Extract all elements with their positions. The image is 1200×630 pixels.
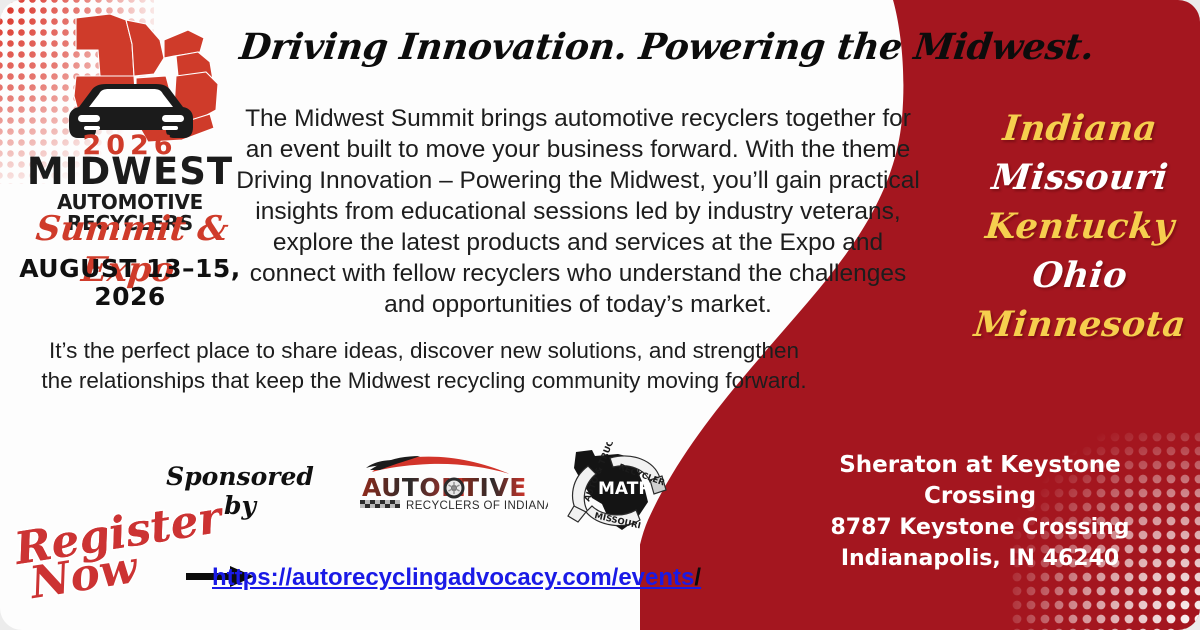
checkered-flag-icon [360,500,400,508]
registration-url-text: https://autorecyclingadvocacy.com/events [212,564,694,591]
state-item-minnesota: Minnesota [957,300,1200,349]
registration-url-tail: / [694,564,701,591]
event-dates-line1: AUGUST 13–15, [14,255,246,283]
headline-tagline: Driving Innovation. Powering the Midwest… [237,26,932,68]
svg-text:TIVE: TIVE [462,473,527,502]
state-item-kentucky: Kentucky [957,202,1200,251]
svg-text:RECYCLERS OF INDIANA: RECYCLERS OF INDIANA [406,500,548,512]
venue-city-state-zip: Indianapolis, IN 46240 [780,543,1180,574]
state-item-indiana: Indiana [957,104,1200,153]
matr-logo: AUTO & TRUCK RECYCLER MISSOURI MATR [562,442,672,538]
promo-card: 2026 MIDWEST AUTOMOTIVE RECYCLERS Summit… [0,0,1200,630]
venue-name: Sheraton at Keystone Crossing [780,450,1180,512]
event-dates-line2: 2026 [14,283,246,311]
state-item-missouri: Missouri [957,153,1200,202]
event-dates: AUGUST 13–15, 2026 [14,255,246,311]
logo-line-midwest: MIDWEST [14,153,246,190]
venue-street: 8787 Keystone Crossing [780,512,1180,543]
body-paragraph-2: It’s the perfect place to share ideas, d… [38,336,810,396]
body-paragraph-1: The Midwest Summit brings automotive rec… [232,103,924,320]
venue-address: Sheraton at Keystone Crossing 8787 Keyst… [780,450,1180,574]
states-list: Indiana Missouri Kentucky Ohio Minnesota [960,104,1200,349]
registration-url-link[interactable]: https://autorecyclingadvocacy.com/events… [212,564,701,592]
event-logo: 2026 MIDWEST AUTOMOTIVE RECYCLERS Summit… [14,10,246,320]
automotive-recyclers-of-indiana-logo: AUTOM TIVE [358,452,548,514]
register-now-badge[interactable]: Register Now [8,508,198,612]
svg-text:MATR: MATR [598,479,651,499]
state-item-ohio: Ohio [957,251,1200,300]
